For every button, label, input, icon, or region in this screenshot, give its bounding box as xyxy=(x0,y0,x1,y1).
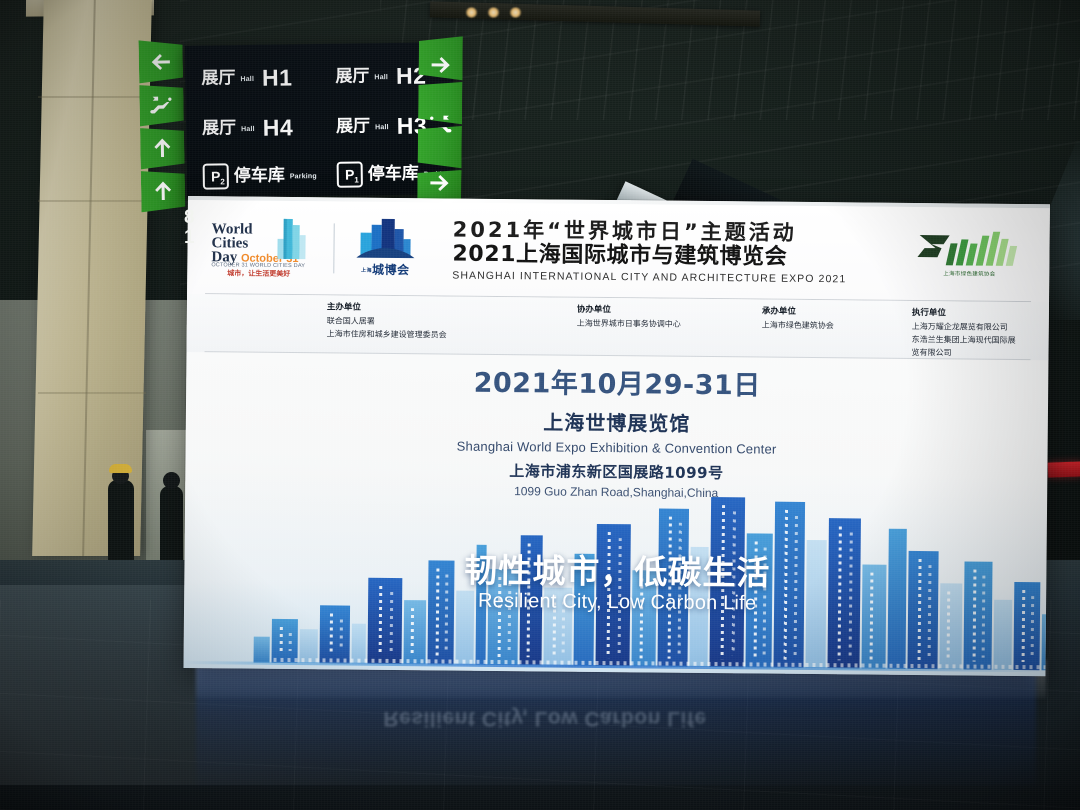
organizer-band: 主办单位 联合国人居署 上海市住房和城乡建设管理委员会 协办单位 上海世界城市日… xyxy=(187,294,1050,360)
hall-label-cn: 展厅 xyxy=(202,120,236,137)
ceiling-light xyxy=(465,7,478,18)
escalator-down-icon xyxy=(148,91,174,117)
board-title-en: SHANGHAI INTERNATIONAL CITY AND ARCHITEC… xyxy=(452,270,915,286)
skyline-building xyxy=(1013,582,1040,670)
organizer-column-executor: 执行单位 上海万耀企龙展览有限公司 东浩兰生集团上海现代国际展览有限公司 xyxy=(911,307,1022,360)
slogan-block: 韧性城市，低碳生活 Resilient City, Low Carbon Lif… xyxy=(442,552,793,616)
parking-label-en: Parking xyxy=(290,173,317,180)
slogan-cn: 韧性城市，低碳生活 xyxy=(442,552,792,592)
building-window-dots xyxy=(947,591,951,661)
world-cities-day-logo: World Cities Day October 31 OCTOBER 31 W… xyxy=(209,216,322,279)
organizer-entry: 上海市住房和城乡建设管理委员会 xyxy=(327,327,577,342)
skyline-building xyxy=(887,529,906,669)
wcd-subtitle-cn: 城市，让生活更美好 xyxy=(227,268,290,279)
overhead-directory-sign: 展厅 Hall H1 展厅 Hall H2 展厅 Hall H4 展厅 Hall… xyxy=(185,42,455,198)
header-divider xyxy=(333,223,334,273)
tan-column xyxy=(32,0,152,556)
building-window-dots xyxy=(838,526,842,660)
parking-index: 2 xyxy=(220,177,225,186)
city-towers-icon xyxy=(271,217,315,261)
arrow-left-icon xyxy=(148,48,174,74)
event-date: 2021年10月29-31日 xyxy=(186,358,1048,405)
hall-label-cn: 展厅 xyxy=(201,70,235,87)
hall-label-en: Hall xyxy=(241,125,255,132)
hall-id: H4 xyxy=(263,114,294,141)
organizer-entry: 上海世界城市日事务协调中心 xyxy=(577,317,762,332)
board-title-line2: 2021上海国际城市与建筑博览会 xyxy=(452,241,915,272)
skyline-building xyxy=(939,583,962,669)
parking-p1-icon: P1 xyxy=(337,161,363,187)
arrow-right-icon xyxy=(426,170,452,196)
expo-logo-name: 城博会 xyxy=(372,263,410,277)
expo-logo-prefix: 上海 xyxy=(361,268,372,274)
building-window-dots xyxy=(436,568,440,656)
expo-logo-label: 上海城博会 xyxy=(346,261,424,279)
slogan-reflection: Resilient City, Low Carbon Life xyxy=(330,672,760,730)
skyline-building xyxy=(861,564,886,668)
slogan-en: Resilient City, Low Carbon Life xyxy=(442,589,792,615)
skyline-building xyxy=(963,561,992,669)
building-window-dots xyxy=(411,608,414,656)
parking-label-cn: 停车库 xyxy=(234,167,285,185)
hall-label-en: Hall xyxy=(375,124,389,131)
sign-row-halls-1-2: 展厅 Hall H1 展厅 Hall H2 xyxy=(185,52,454,102)
hall-label-en: Hall xyxy=(240,75,254,82)
skyline-building xyxy=(368,578,403,664)
board-header: World Cities Day October 31 OCTOBER 31 W… xyxy=(187,200,1050,302)
building-window-dots xyxy=(928,565,932,657)
sgbc-caption: 上海市绿色建筑协会 xyxy=(943,269,995,278)
skyline-building xyxy=(907,551,938,669)
skyline-building xyxy=(404,600,427,664)
sign-cell-h4: 展厅 Hall H4 xyxy=(186,104,321,152)
building-window-dots xyxy=(849,532,853,656)
skyline-building xyxy=(827,518,860,668)
parking-index: 1 xyxy=(354,175,359,184)
sign-cell-p2: P2 停车库 Parking xyxy=(186,152,321,200)
sgbc-green-logo-icon xyxy=(915,229,1023,272)
building-window-dots xyxy=(918,559,922,661)
venue-name-en: Shanghai World Expo Exhibition & Convent… xyxy=(186,436,1048,459)
arrow-right-icon xyxy=(427,52,453,78)
building-window-dots xyxy=(973,570,977,662)
hall-label-cn: 展厅 xyxy=(336,118,370,135)
column-seam xyxy=(38,96,146,98)
sign-cell-h1: 展厅 Hall H1 xyxy=(185,54,320,102)
exit-sign xyxy=(1048,461,1080,477)
hall-label-en: Hall xyxy=(374,74,388,81)
skyline-building xyxy=(272,619,298,663)
organizer-entry: 东浩兰生集团上海现代国际展览有限公司 xyxy=(911,333,1022,360)
organizer-entry: 上海市绿色建筑协会 xyxy=(762,319,912,333)
skyline-building xyxy=(993,600,1012,670)
building-window-dots xyxy=(1031,596,1035,658)
building-window-dots xyxy=(289,633,292,651)
hall-label-cn: 展厅 xyxy=(335,68,369,85)
building-window-dots xyxy=(1022,590,1026,662)
sign-row-halls-4-3: 展厅 Hall H4 展厅 Hall H3 xyxy=(186,102,455,152)
partial-background-digits: 81 xyxy=(184,208,195,248)
arrow-up-icon xyxy=(150,177,176,203)
skyline-building xyxy=(805,540,826,668)
skyline-building xyxy=(254,637,270,663)
organizer-column-coorganizer: 协办单位 上海世界城市日事务协调中心 xyxy=(576,304,761,358)
worker-silhouette xyxy=(108,480,134,572)
organizer-title: 执行单位 xyxy=(912,307,1023,321)
venue-name-cn: 上海世博展览馆 xyxy=(186,403,1048,440)
expo-logo: 上海城博会 xyxy=(346,217,425,282)
blue-building-logo-icon xyxy=(354,217,416,264)
skyline-building xyxy=(320,605,351,663)
sign-row-parking: P2 停车库 Parking P1 停车库 Parking xyxy=(186,150,455,200)
column-seam xyxy=(38,392,146,394)
building-window-dots xyxy=(379,586,383,656)
building-window-dots xyxy=(280,627,283,655)
board-title-block: 2021年“世界城市日”主题活动 2021上海国际城市与建筑博览会 SHANGH… xyxy=(424,217,916,286)
building-window-dots xyxy=(982,576,986,658)
event-backdrop-board: World Cities Day October 31 OCTOBER 31 W… xyxy=(183,196,1049,676)
hardhat-icon xyxy=(109,464,132,473)
arrow-up-icon xyxy=(149,134,175,160)
building-window-dots xyxy=(340,619,343,651)
column-seam xyxy=(38,200,146,202)
parking-label-cn: 停车库 xyxy=(368,165,419,183)
worker-head xyxy=(163,472,180,489)
photo-scene: 展厅 Hall H1 展厅 Hall H2 展厅 Hall H4 展厅 Hall… xyxy=(0,0,1080,810)
building-window-dots xyxy=(390,592,394,652)
organizer-column-host: 主办单位 联合国人居署 上海市住房和城乡建设管理委员会 xyxy=(326,301,576,355)
parking-p2-icon: P2 xyxy=(203,163,229,189)
building-window-dots xyxy=(794,516,798,656)
ceiling-light xyxy=(509,7,522,18)
building-window-dots xyxy=(330,613,333,655)
building-window-dots xyxy=(870,573,874,661)
sgbc-logo: 上海市绿色建筑协会 xyxy=(915,229,1023,280)
organizer-column-undertaker: 承办单位 上海市绿色建筑协会 xyxy=(761,306,911,359)
hall-id: H1 xyxy=(262,64,293,91)
organizer-entry: 上海万耀企龙展览有限公司 xyxy=(912,320,1023,334)
ceiling-light xyxy=(487,7,500,18)
